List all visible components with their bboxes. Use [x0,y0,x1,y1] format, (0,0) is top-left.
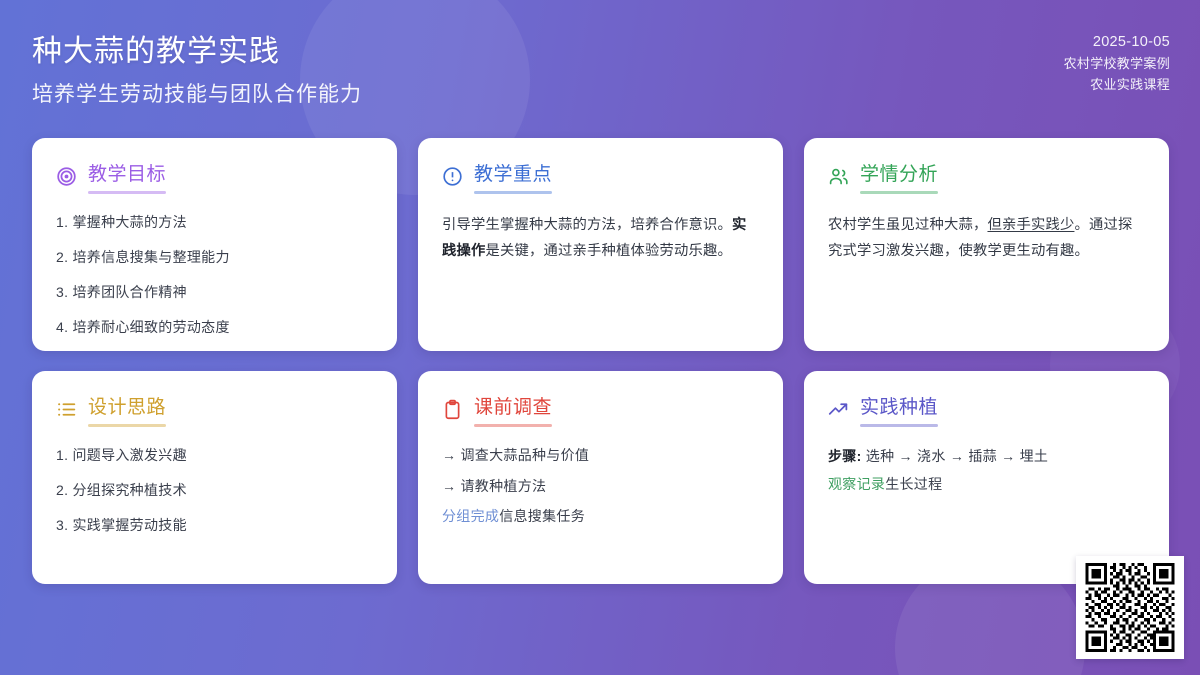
page-subtitle: 培养学生劳动技能与团队合作能力 [32,78,362,108]
steps-line: 步骤: 选种 → 浇水 → 插蒜 → 埋土 [828,445,1145,468]
text-part-highlight: 观察记录 [828,476,885,492]
list-icon [56,399,77,420]
card-title: 教学目标 [88,164,166,190]
card-body: → 调查大蒜品种与价值 → 请教种植方法 分组完成信息搜集任务 [442,445,759,528]
card-title: 课前调查 [474,397,552,423]
card-header: 课前调查 [442,397,759,423]
focus-paragraph: 引导学生掌握种大蒜的方法，培养合作意识。实践操作是关键，通过亲手种植体验劳动乐趣… [442,212,759,264]
header-meta-line1: 农村学校教学案例 [1064,53,1170,74]
list-item: 1. 问题导入激发兴趣 [56,445,373,466]
text-part: 生长过程 [885,476,942,492]
card-title: 学情分析 [860,164,938,190]
text-part: 引导学生掌握种大蒜的方法，培养合作意识。 [442,217,732,233]
users-icon [828,166,849,187]
card-header: 设计思路 [56,397,373,423]
text-part: 农村学生虽见过种大蒜， [828,217,987,233]
target-icon [56,166,77,187]
slide-header: 种大蒜的教学实践 培养学生劳动技能与团队合作能力 2025-10-05 农村学校… [0,0,1200,122]
list-item: 3. 培养团队合作精神 [56,282,373,303]
list-item: 1. 掌握种大蒜的方法 [56,212,373,233]
card-grid: 教学目标 1. 掌握种大蒜的方法 2. 培养信息搜集与整理能力 3. 培养团队合… [32,138,1168,584]
text-part: 信息搜集任务 [499,508,585,524]
card-teaching-focus[interactable]: 教学重点 引导学生掌握种大蒜的方法，培养合作意识。实践操作是关键，通过亲手种植体… [418,138,783,351]
header-meta-line2: 农业实践课程 [1064,74,1170,95]
text-part-underline: 但亲手实践少 [987,217,1074,233]
card-pre-class-survey[interactable]: 课前调查 → 调查大蒜品种与价值 → 请教种植方法 分组完成信息搜集任务 [418,371,783,584]
card-body: 1. 问题导入激发兴趣 2. 分组探究种植技术 3. 实践掌握劳动技能 [56,445,373,536]
text-part-highlight: 分组完成 [442,508,499,524]
header-meta: 2025-10-05 农村学校教学案例 农业实践课程 [1064,32,1170,95]
goals-list: 1. 掌握种大蒜的方法 2. 培养信息搜集与整理能力 3. 培养团队合作精神 4… [56,212,373,338]
alert-circle-icon [442,166,463,187]
card-body: 1. 掌握种大蒜的方法 2. 培养信息搜集与整理能力 3. 培养团队合作精神 4… [56,212,373,338]
card-practice-planting[interactable]: 实践种植 步骤: 选种 → 浇水 → 插蒜 → 埋土 观察记录生长过程 [804,371,1169,584]
survey-list: → 调查大蒜品种与价值 → 请教种植方法 分组完成信息搜集任务 [442,445,759,528]
card-title: 设计思路 [88,397,166,423]
list-item: 2. 分组探究种植技术 [56,480,373,501]
card-student-analysis[interactable]: 学情分析 农村学生虽见过种大蒜，但亲手实践少。通过探究式学习激发兴趣，使教学更生… [804,138,1169,351]
card-title: 教学重点 [474,164,552,190]
card-header: 教学目标 [56,164,373,190]
list-item-highlight: 分组完成信息搜集任务 [442,506,759,528]
text-part: 是关键，通过亲手种植体验劳动乐趣。 [486,243,732,259]
card-header: 教学重点 [442,164,759,190]
header-date: 2025-10-05 [1064,32,1170,53]
card-body: 农村学生虽见过种大蒜，但亲手实践少。通过探究式学习激发兴趣，使教学更生动有趣。 [828,212,1145,264]
page-title: 种大蒜的教学实践 [32,26,280,70]
observe-line: 观察记录生长过程 [828,473,1145,496]
steps-value: 选种 → 浇水 → 插蒜 → 埋土 [866,448,1048,464]
card-title: 实践种植 [860,397,938,423]
card-design-approach[interactable]: 设计思路 1. 问题导入激发兴趣 2. 分组探究种植技术 3. 实践掌握劳动技能 [32,371,397,584]
qr-code-image [1083,563,1177,652]
qr-code[interactable] [1076,556,1184,659]
card-header: 实践种植 [828,397,1145,423]
analysis-paragraph: 农村学生虽见过种大蒜，但亲手实践少。通过探究式学习激发兴趣，使教学更生动有趣。 [828,212,1145,264]
list-item: → 调查大蒜品种与价值 [442,445,759,467]
card-body: 引导学生掌握种大蒜的方法，培养合作意识。实践操作是关键，通过亲手种植体验劳动乐趣… [442,212,759,264]
list-item: 2. 培养信息搜集与整理能力 [56,247,373,268]
clipboard-icon [442,399,463,420]
design-list: 1. 问题导入激发兴趣 2. 分组探究种植技术 3. 实践掌握劳动技能 [56,445,373,536]
card-body: 步骤: 选种 → 浇水 → 插蒜 → 埋土 观察记录生长过程 [828,445,1145,495]
slide-root: 种大蒜的教学实践 培养学生劳动技能与团队合作能力 2025-10-05 农村学校… [0,0,1200,675]
card-header: 学情分析 [828,164,1145,190]
steps-label: 步骤: [828,448,862,464]
card-teaching-goals[interactable]: 教学目标 1. 掌握种大蒜的方法 2. 培养信息搜集与整理能力 3. 培养团队合… [32,138,397,351]
list-item: → 请教种植方法 [442,476,759,498]
trending-up-icon [828,399,849,420]
list-item: 3. 实践掌握劳动技能 [56,515,373,536]
list-item: 4. 培养耐心细致的劳动态度 [56,317,373,338]
